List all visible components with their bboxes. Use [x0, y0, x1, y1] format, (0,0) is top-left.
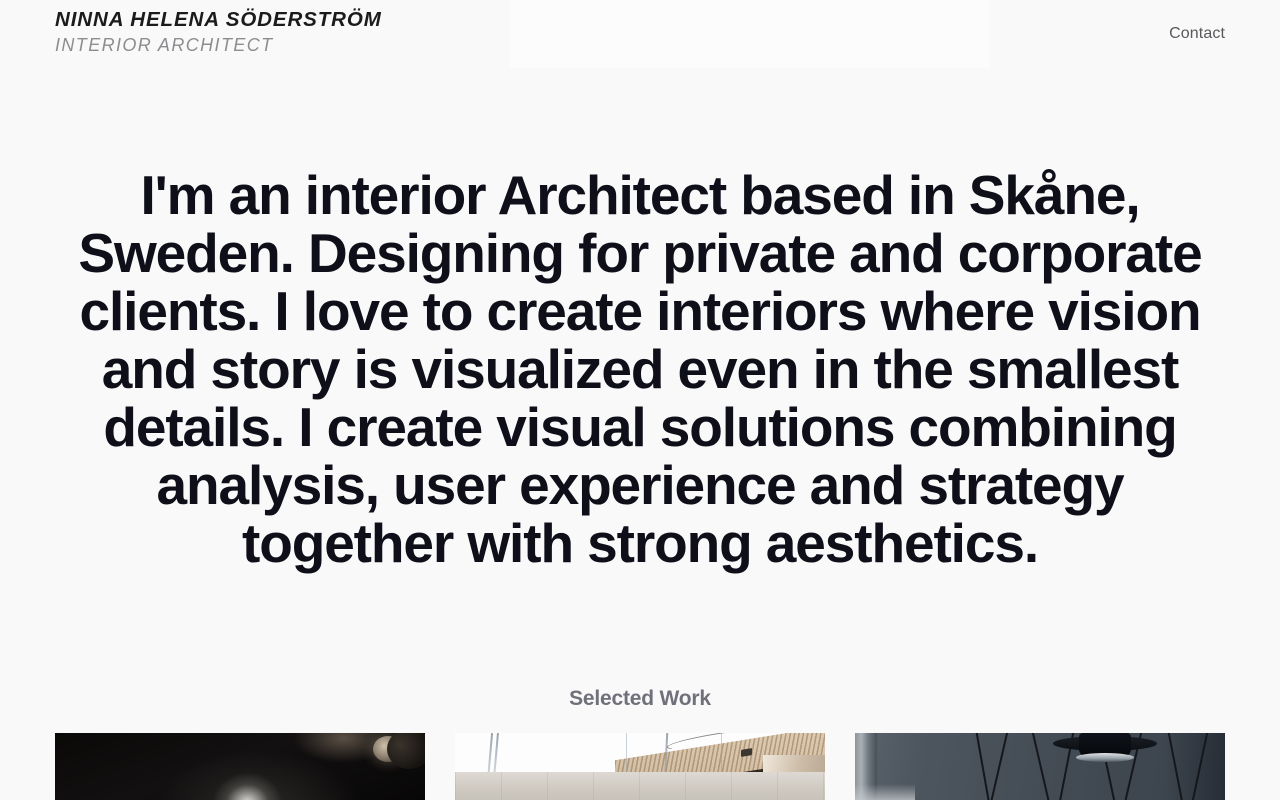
- work-thumbnail-2: [455, 733, 825, 800]
- hero-section: I'm an interior Architect based in Skåne…: [55, 166, 1225, 572]
- site-header: NINNA HELENA SÖDERSTRÖM INTERIOR ARCHITE…: [0, 0, 1280, 68]
- work-thumbnail-3: [855, 733, 1225, 800]
- work-card-3[interactable]: [855, 733, 1225, 800]
- work-card-2[interactable]: [455, 733, 825, 800]
- work-card-1[interactable]: [55, 733, 425, 800]
- nav-link-contact[interactable]: Contact: [1169, 25, 1225, 42]
- work-grid: [55, 733, 1225, 800]
- page-root: NINNA HELENA SÖDERSTRÖM INTERIOR ARCHITE…: [0, 0, 1280, 800]
- page-title: I'm an interior Architect based in Skåne…: [55, 166, 1225, 572]
- brand-role: INTERIOR ARCHITECT: [55, 36, 382, 54]
- brand-name: NINNA HELENA SÖDERSTRÖM: [55, 10, 382, 31]
- work-thumbnail-1: [55, 733, 425, 800]
- selected-work-label: Selected Work: [0, 687, 1280, 711]
- brand-logo[interactable]: NINNA HELENA SÖDERSTRÖM INTERIOR ARCHITE…: [55, 6, 382, 54]
- main-nav: Contact: [1169, 6, 1225, 43]
